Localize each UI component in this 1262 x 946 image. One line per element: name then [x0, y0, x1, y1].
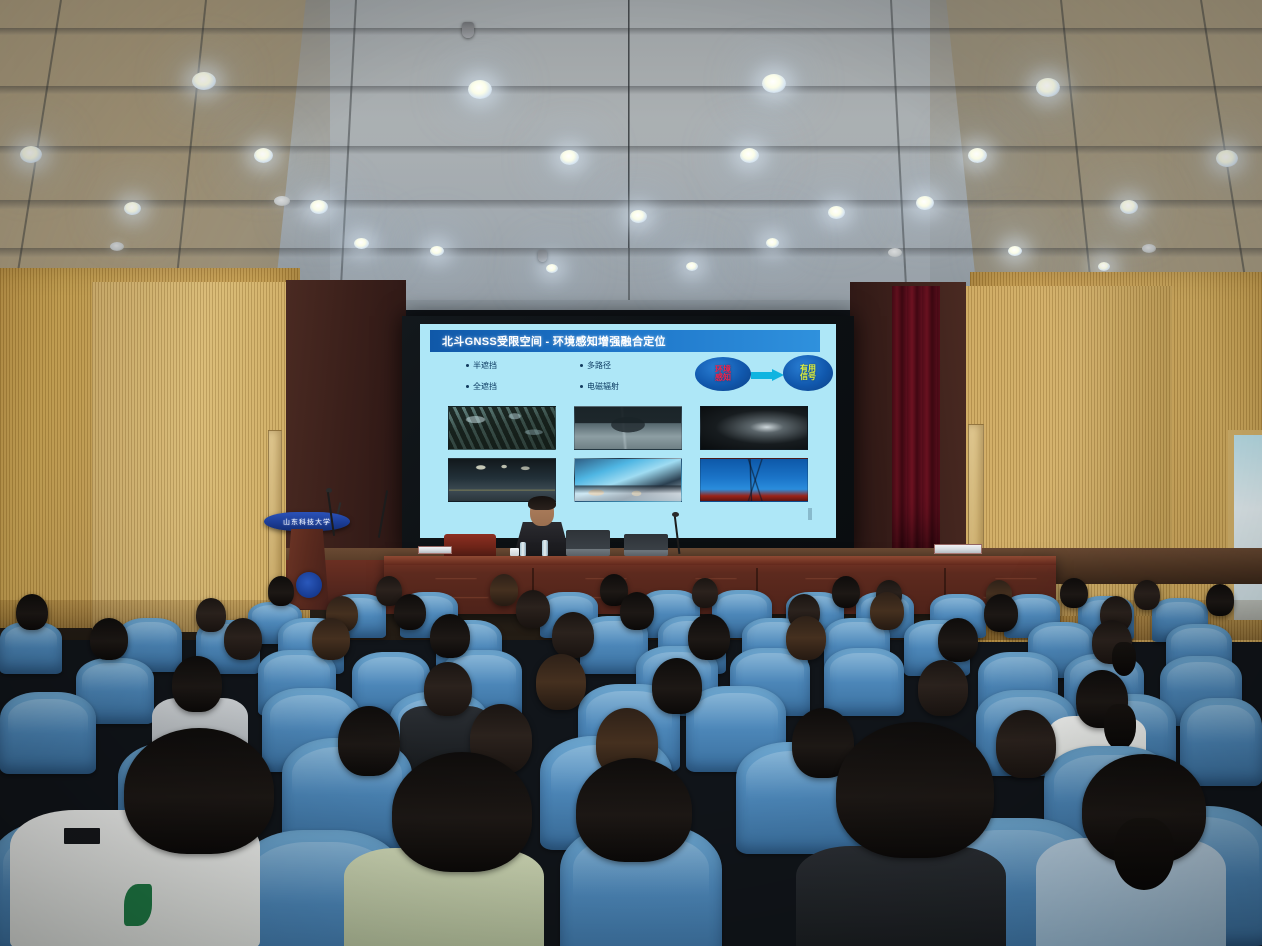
ceiling-light-off: [110, 242, 124, 251]
audience-area: [0, 566, 1262, 946]
attendee-torso: [796, 846, 1006, 946]
laptop-speaker[interactable]: [566, 530, 610, 556]
attendee-head: [338, 706, 400, 776]
attendee-head-foreground: [392, 752, 532, 872]
attendee-head: [16, 594, 48, 630]
ceiling-light: [560, 150, 579, 165]
podium-label: 山东科技大学: [283, 517, 331, 526]
bullet-item: 多路径: [580, 360, 686, 371]
ceiling-coffer-band: [0, 200, 1262, 209]
lecture-hall-photo: 北斗GNSS受限空间 - 环境感知增强融合定位 半遮挡 多路径 全遮挡 电磁: [0, 0, 1262, 946]
slide-title-bar: 北斗GNSS受限空间 - 环境感知增强融合定位: [430, 330, 820, 352]
flow-source-ellipse: 环境 感知: [695, 357, 751, 391]
projection-screen: 北斗GNSS受限空间 - 环境感知增强融合定位 半遮挡 多路径 全遮挡 电磁: [402, 316, 854, 554]
podium-nameplate: 山东科技大学: [264, 512, 350, 531]
attendee-head: [984, 594, 1018, 632]
attendee-head: [424, 662, 472, 716]
attendee-head: [688, 614, 730, 660]
attendee-head-foreground: [576, 758, 692, 862]
ceiling-light: [686, 262, 698, 271]
slide-photo-grid: [448, 406, 808, 502]
shirt-logo: [124, 884, 152, 926]
ceiling-light-off: [1142, 244, 1156, 253]
ceiling-light: [762, 74, 786, 93]
ceiling-coffer-band: [0, 28, 1262, 35]
ceiling: [0, 0, 1262, 310]
ceiling-light: [1036, 78, 1060, 97]
water-bottle[interactable]: [542, 540, 548, 556]
attendee-head: [620, 592, 654, 630]
slide-photo-tree-canopy-road: [448, 406, 556, 450]
attendee-head: [652, 658, 702, 714]
ceiling-light: [192, 72, 216, 90]
slide-flow-diagram: 环境 感知 有用 信号: [695, 354, 825, 394]
ceiling-light: [20, 146, 42, 163]
attendee-head-foreground: [124, 728, 274, 854]
ceiling-light-off: [888, 248, 902, 257]
attendee-head: [172, 656, 222, 712]
attendee-head: [870, 592, 904, 630]
attendee-head: [1134, 580, 1160, 610]
flow-target-ellipse: 有用 信号: [783, 355, 833, 391]
stage-curtain-right: [892, 286, 940, 562]
attendee-ponytail: [1104, 704, 1136, 750]
attendee-head: [516, 590, 550, 628]
bullet-dot-icon: [466, 385, 469, 388]
ceiling-light-off: [274, 196, 290, 206]
smoke-detector-icon: [538, 250, 547, 262]
slide-bullet-list: 半遮挡 多路径 全遮挡 电磁辐射: [466, 360, 686, 392]
cup[interactable]: [510, 548, 519, 556]
attendee-head: [394, 594, 426, 630]
ceiling-cable: [628, 0, 629, 248]
attendee-head: [938, 618, 978, 662]
slide-photo-station-concourse: [574, 458, 682, 502]
slide-corner-mark: [808, 508, 812, 520]
attendee-head: [918, 660, 968, 716]
ceiling-light: [1120, 200, 1138, 214]
ceiling-light: [1008, 246, 1022, 256]
ceiling-light: [430, 246, 444, 256]
ceiling-light: [1098, 262, 1110, 271]
attendee-head: [430, 614, 470, 658]
slide-title: 北斗GNSS受限空间 - 环境感知增强融合定位: [430, 333, 666, 349]
slide-photo-power-transmission-towers: [700, 458, 808, 502]
ceiling-light: [766, 238, 779, 248]
laptop-secondary[interactable]: [624, 534, 668, 556]
attendee-head: [490, 574, 518, 606]
attendee-head: [312, 618, 350, 660]
ceiling-light: [630, 210, 647, 223]
ceiling-coffer-band: [0, 248, 1262, 257]
flow-arrow-icon: [751, 369, 785, 381]
ceiling-light: [916, 196, 934, 210]
ceiling-light: [968, 148, 987, 163]
bullet-dot-icon: [580, 385, 583, 388]
flow-target-line2: 信号: [800, 373, 816, 381]
attendee-head: [692, 578, 718, 608]
bullet-item: 电磁辐射: [580, 381, 686, 392]
attendee-head: [1060, 578, 1088, 608]
bullet-label: 电磁辐射: [587, 381, 619, 392]
bullet-item: 半遮挡: [466, 360, 572, 371]
bullet-label: 半遮挡: [473, 360, 497, 371]
attendee-head: [832, 576, 860, 608]
smoke-detector-icon: [462, 22, 474, 38]
attendee-head: [196, 598, 226, 632]
bullet-dot-icon: [466, 364, 469, 367]
attendee-head: [90, 618, 128, 660]
slide-canvas: 北斗GNSS受限空间 - 环境感知增强融合定位 半遮挡 多路径 全遮挡 电磁: [420, 324, 836, 538]
attendee-head: [1206, 584, 1234, 616]
bullet-dot-icon: [580, 364, 583, 367]
bullet-label: 多路径: [587, 360, 611, 371]
attendee-head: [536, 654, 586, 710]
seat[interactable]: [824, 648, 904, 716]
speaker-hair: [528, 496, 556, 510]
attendee-head: [552, 612, 594, 658]
ceiling-light: [740, 148, 759, 163]
attendee-ponytail: [1112, 642, 1136, 676]
ceiling-light: [254, 148, 273, 163]
bullet-item: 全遮挡: [466, 381, 572, 392]
attendee-head: [224, 618, 262, 660]
ceiling-light: [354, 238, 369, 249]
paper-tray[interactable]: [934, 544, 982, 554]
ceiling-light: [124, 202, 141, 215]
slide-photo-tunnel-interior: [700, 406, 808, 450]
paper-tray[interactable]: [418, 546, 452, 554]
ceiling-light: [828, 206, 845, 219]
attendee-head: [996, 710, 1056, 778]
attendee-head: [786, 616, 826, 660]
seat[interactable]: [1180, 698, 1262, 786]
seat[interactable]: [0, 692, 96, 774]
ceiling-light: [1216, 150, 1238, 167]
arrow-shaft: [751, 372, 773, 379]
bullet-label: 全遮挡: [473, 381, 497, 392]
water-bottle[interactable]: [520, 542, 526, 556]
ceiling-light: [310, 200, 328, 214]
head-table-top: [384, 556, 1056, 565]
attendee-head: [268, 576, 294, 606]
ceiling-light: [546, 264, 558, 273]
attendee-ponytail: [1114, 818, 1174, 890]
ceiling-light: [468, 80, 492, 99]
slide-photo-overpass-underside: [574, 406, 682, 450]
table-microphone-head[interactable]: [672, 512, 679, 517]
ceiling-coffer-band: [0, 86, 1262, 94]
attendee-head-foreground: [836, 722, 994, 858]
flow-source-line2: 感知: [715, 374, 731, 382]
shirt-label: [64, 828, 100, 844]
